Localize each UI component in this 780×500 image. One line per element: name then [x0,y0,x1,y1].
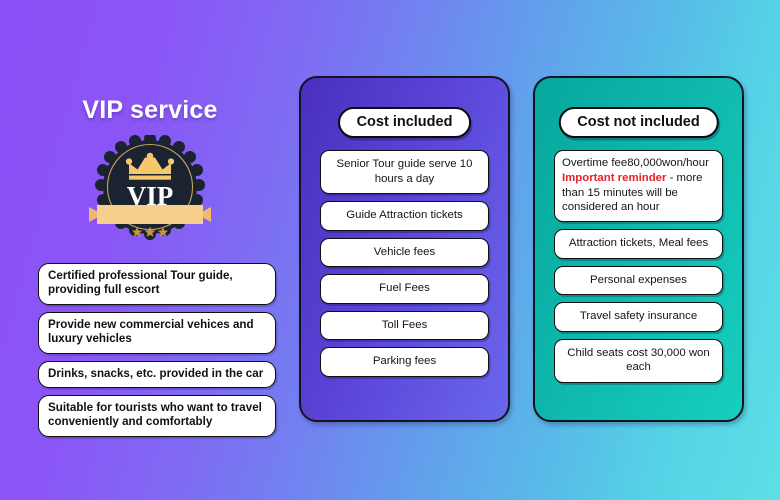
list-item: Travel safety insurance [554,302,723,332]
list-item: Vehicle fees [320,238,489,268]
cost-not-included-item-list: Overtime fee80,000won/hour Important rem… [554,150,723,390]
list-item: Fuel Fees [320,274,489,304]
list-item: Personal expenses [554,266,723,296]
feature-item: Provide new commercial vehices and luxur… [38,312,276,354]
panel-header-cost-not-included: Cost not included [558,107,718,138]
list-item: Child seats cost 30,000 won each [554,339,723,383]
list-item: Toll Fees [320,311,489,341]
cost-included-item-list: Senior Tour guide serve 10 hours a day G… [320,150,489,384]
panel-header-cost-included: Cost included [338,107,472,138]
list-item: Guide Attraction tickets [320,201,489,231]
list-item: Senior Tour guide serve 10 hours a day [320,150,489,194]
reminder-lead: Overtime fee80,000won/hour [562,157,709,169]
badge-ribbon [89,205,211,224]
panel-cost-included: Cost included Senior Tour guide serve 10… [299,76,510,422]
vip-badge: VIP [89,135,211,245]
vip-service-column: VIP service [0,0,300,500]
page-title: VIP service [0,96,300,125]
panel-cost-not-included: Cost not included Overtime fee80,000won/… [533,76,744,422]
reminder-highlight: Important reminder [562,172,666,184]
feature-list: Certified professional Tour guide, provi… [38,263,276,444]
feature-item: Suitable for tourists who want to travel… [38,395,276,437]
list-item-reminder: Overtime fee80,000won/hour Important rem… [554,150,723,222]
feature-item: Drinks, snacks, etc. provided in the car [38,361,276,388]
feature-item: Certified professional Tour guide, provi… [38,263,276,305]
list-item: Parking fees [320,347,489,377]
list-item: Attraction tickets, Meal fees [554,229,723,259]
infographic-canvas: VIP service [0,0,780,500]
